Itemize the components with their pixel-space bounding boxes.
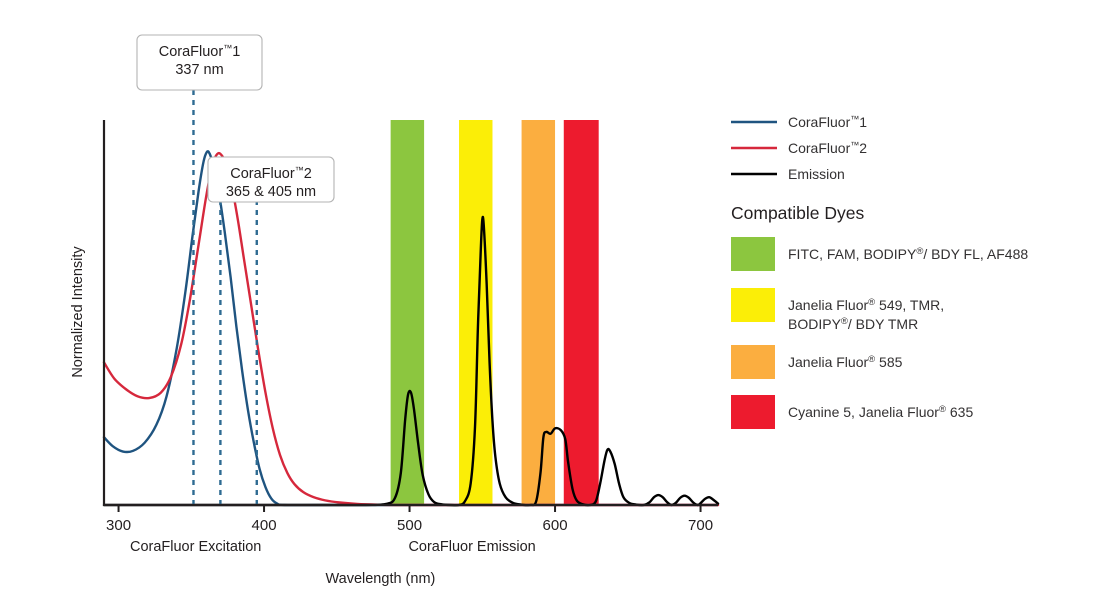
- dye-swatch-2: [731, 345, 775, 379]
- callout-value-1: 365 & 405 nm: [226, 184, 316, 200]
- legend-heading: Compatible Dyes: [731, 203, 864, 223]
- dye-label-3-0: Cyanine 5, Janelia Fluor® 635: [788, 404, 973, 421]
- dye-label-1-0: Janelia Fluor® 549, TMR,: [788, 297, 944, 314]
- legend-label-2: Emission: [788, 166, 845, 182]
- x-tick-label: 700: [688, 517, 713, 534]
- region-label-1: CoraFluor Emission: [408, 539, 535, 555]
- dye-swatch-3: [731, 395, 775, 429]
- dye-label-2-0: Janelia Fluor® 585: [788, 354, 903, 371]
- x-tick-label: 300: [106, 517, 131, 534]
- red-band: [564, 120, 599, 505]
- x-tick-label: 400: [252, 517, 277, 534]
- region-label-0: CoraFluor Excitation: [130, 539, 261, 555]
- y-axis-title: Normalized Intensity: [70, 246, 86, 378]
- spectra-figure: 300400500600700CoraFluor ExcitationCoraF…: [0, 0, 1110, 612]
- dye-label-0-0: FITC, FAM, BODIPY®/ BDY FL, AF488: [788, 246, 1028, 263]
- x-axis-title: Wavelength (nm): [326, 571, 436, 587]
- x-tick-label: 600: [543, 517, 568, 534]
- orange-band: [522, 120, 555, 505]
- dye-swatch-0: [731, 237, 775, 271]
- dye-label-1-1: BODIPY®/ BDY TMR: [788, 316, 918, 333]
- dye-swatch-1: [731, 288, 775, 322]
- callout-value-0: 337 nm: [175, 62, 223, 78]
- x-tick-label: 500: [397, 517, 422, 534]
